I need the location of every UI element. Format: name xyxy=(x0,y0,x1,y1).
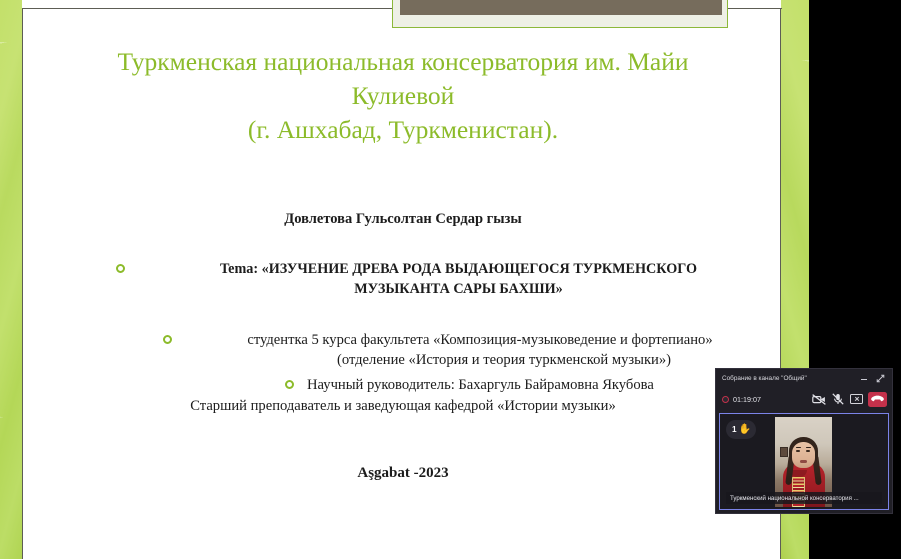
student-bullet-row: студентка 5 курса факультета «Композиция… xyxy=(163,330,775,370)
hang-up-button[interactable] xyxy=(868,392,887,407)
stop-sharing-icon[interactable] xyxy=(848,392,865,407)
expand-icon[interactable] xyxy=(872,371,888,386)
bullet-ring-icon xyxy=(285,380,294,389)
meeting-video-stage[interactable]: 1 ✋ Туркменский национальной консерватор… xyxy=(719,413,889,510)
student-line-2: (отделение «История и теория туркменской… xyxy=(234,350,774,370)
minimize-icon[interactable] xyxy=(856,371,872,386)
topic-line-1: Tema: «ИЗУЧЕНИЕ ДРЕВА РОДА ВЫДАЮЩЕГОСЯ Т… xyxy=(141,259,776,279)
screen: Туркменская национальная консерватория и… xyxy=(0,0,901,559)
topic-bullet-row: Tema: «ИЗУЧЕНИЕ ДРЕВА РОДА ВЫДАЮЩЕГОСЯ Т… xyxy=(116,259,776,299)
participant-eyebrow-left xyxy=(796,447,801,448)
participant-name: Туркменский национальной консерватория .… xyxy=(730,495,859,502)
participant-face xyxy=(792,442,815,468)
meeting-controls: 01:19:07 xyxy=(716,388,892,410)
slide-title-line-1: Туркменская национальная консерватория и… xyxy=(41,45,765,79)
recording-indicator-icon xyxy=(722,396,729,403)
raised-hand-icon: ✋ xyxy=(739,425,751,435)
participant-eye-right xyxy=(806,450,810,452)
slide-title-line-3: (г. Ашхабад, Туркменистан). xyxy=(41,113,765,147)
advisor-text: Научный руководитель: Бахаргуль Байрамов… xyxy=(307,375,654,395)
student-line-1: студентка 5 курса факультета «Композиция… xyxy=(186,330,774,350)
participant-eye-left xyxy=(796,450,800,452)
slide-content: Туркменская национальная консерватория и… xyxy=(23,9,781,558)
raised-hand-count: 1 xyxy=(732,425,737,434)
camera-off-icon[interactable] xyxy=(810,392,827,407)
bullet-ring-icon xyxy=(163,335,172,344)
slide-left-border-decoration xyxy=(0,0,22,559)
participant-eyebrow-right xyxy=(806,447,811,448)
advisor-role-text: Старший преподаватель и заведующая кафед… xyxy=(41,398,765,415)
bullet-ring-icon xyxy=(116,264,125,273)
author-name: Довлетова Гульсолтан Сердар гызы xyxy=(41,211,765,228)
meeting-window-title: Собрание в канале "Общий" xyxy=(722,375,856,382)
participant-name-strip: Туркменский национальной консерватория .… xyxy=(726,492,882,504)
presentation-slide: Туркменская национальная консерватория и… xyxy=(0,0,809,559)
topic-line-2: МУЗЫКАНТА САРЫ БАХШИ» xyxy=(141,279,776,299)
teams-meeting-window[interactable]: Собрание в канале "Общий" 01:19:07 xyxy=(716,369,892,513)
wall-picture-decoration xyxy=(780,447,788,457)
student-text: студентка 5 курса факультета «Композиция… xyxy=(186,330,774,370)
slide-title-line-2: Кулиевой xyxy=(41,79,765,113)
meeting-timer: 01:19:07 xyxy=(733,395,808,404)
slide-title: Туркменская национальная консерватория и… xyxy=(41,45,765,147)
meeting-titlebar[interactable]: Собрание в канале "Общий" xyxy=(716,369,892,388)
place-and-year: Aşgabat -2023 xyxy=(41,465,765,482)
microphone-off-icon[interactable] xyxy=(829,392,846,407)
advisor-bullet-row: Научный руководитель: Бахаргуль Байрамов… xyxy=(285,375,765,395)
raised-hand-badge[interactable]: 1 ✋ xyxy=(726,420,756,439)
participant-mouth xyxy=(800,460,807,463)
topic-text: Tema: «ИЗУЧЕНИЕ ДРЕВА РОДА ВЫДАЮЩЕГОСЯ Т… xyxy=(141,259,776,299)
